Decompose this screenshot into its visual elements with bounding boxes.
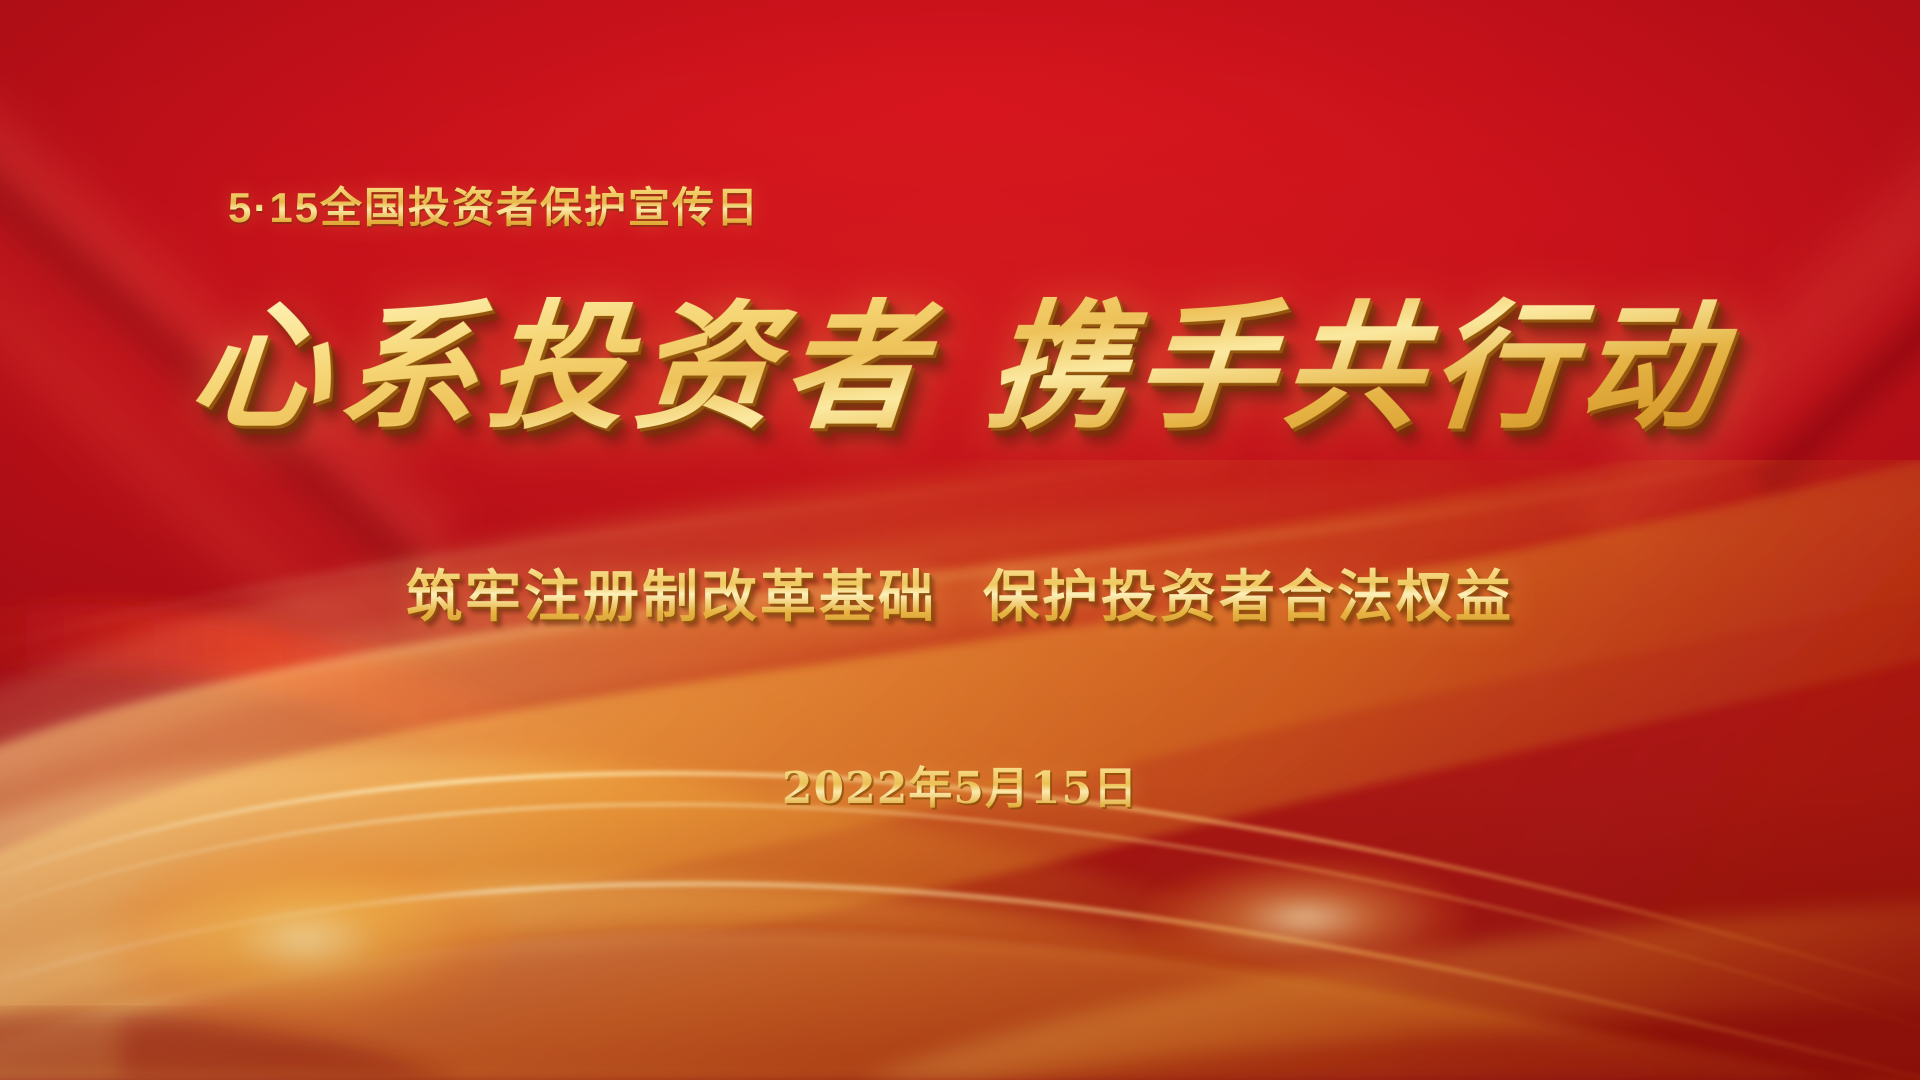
subtitle-part-1: 筑牢注册制改革基础	[406, 565, 937, 628]
headline-part-1: 心系投资者	[185, 285, 939, 448]
subtitle-part-2: 保护投资者合法权益	[983, 565, 1514, 628]
poster-headline: 心系投资者携手共行动	[0, 288, 1920, 447]
poster-text-content: 5·15全国投资者保护宣传日 心系投资者携手共行动 筑牢注册制改革基础保护投资者…	[0, 0, 1920, 1080]
poster-date-label: 2022年5月15日	[0, 752, 1920, 816]
poster-canvas: 5·15全国投资者保护宣传日 心系投资者携手共行动 筑牢注册制改革基础保护投资者…	[0, 0, 1920, 1080]
headline-part-2: 携手共行动	[981, 285, 1735, 448]
poster-subtitle: 筑牢注册制改革基础保护投资者合法权益	[0, 552, 1920, 633]
campaign-eyebrow-label: 5·15全国投资者保护宣传日	[228, 174, 760, 235]
